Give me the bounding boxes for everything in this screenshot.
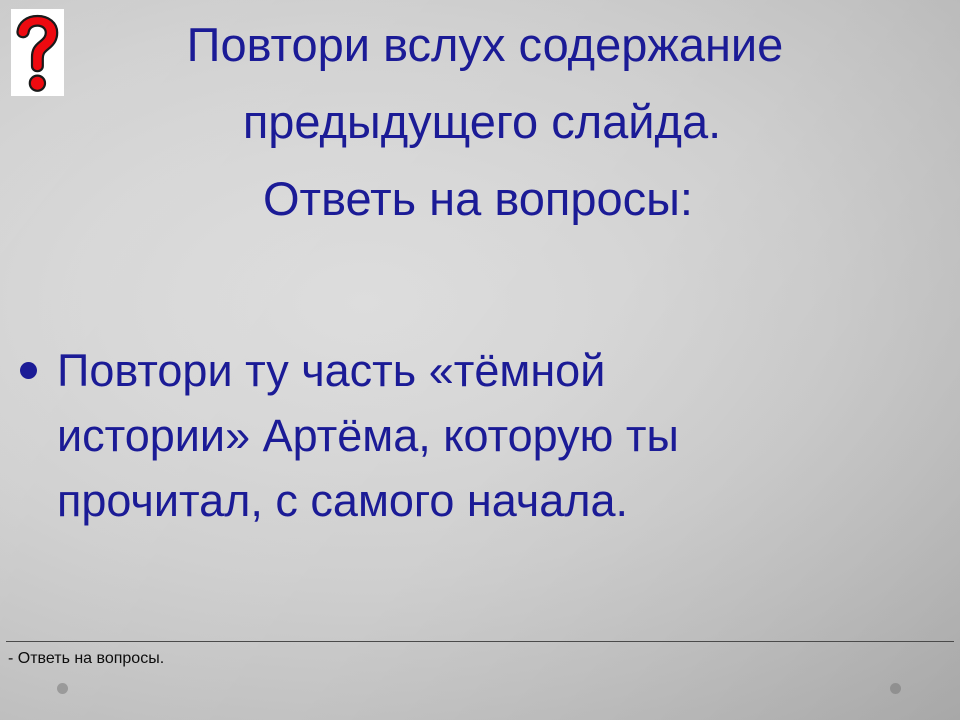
decor-dot-left — [57, 683, 68, 694]
decor-dot-right — [890, 683, 901, 694]
title-line-1: Повтори вслух содержание — [60, 6, 910, 83]
bullet-point-icon — [20, 362, 37, 379]
body-line-2: истории» Артёма, которую ты — [57, 403, 908, 468]
body-text: Повтори ту часть «тёмной истории» Артёма… — [57, 338, 908, 533]
title-line-3: Ответь на вопросы: — [60, 160, 910, 237]
title-line-2: предыдущего слайда. — [60, 83, 910, 160]
body-line-3: прочитал, с самого начала. — [57, 468, 908, 533]
body-bullet-item: Повтори ту часть «тёмной истории» Артёма… — [8, 338, 908, 533]
body-line-1: Повтори ту часть «тёмной — [57, 338, 908, 403]
footer-divider — [6, 641, 954, 642]
slide-title: Повтори вслух содержание предыдущего сла… — [60, 6, 910, 237]
slide-canvas: Повтори вслух содержание предыдущего сла… — [0, 0, 960, 720]
question-mark-icon — [11, 9, 64, 96]
footer-note: - Ответь на вопросы. — [8, 648, 164, 670]
